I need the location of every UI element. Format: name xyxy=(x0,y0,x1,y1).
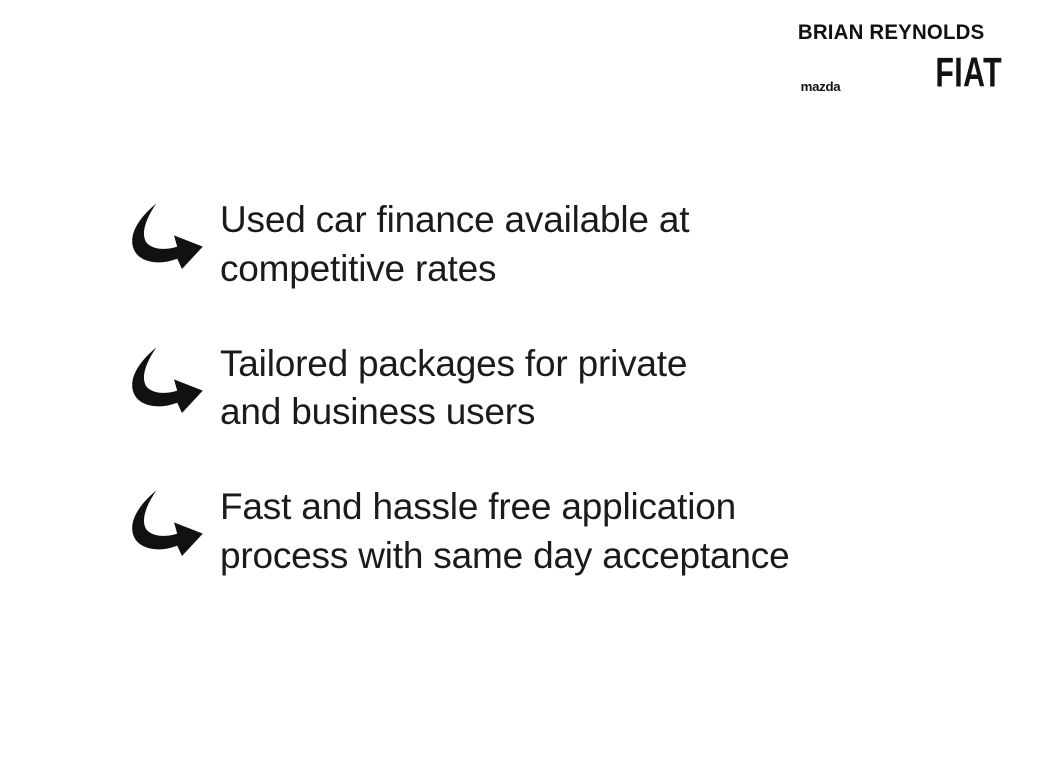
feature-bullet-list: Used car finance available at competitiv… xyxy=(126,196,966,581)
brand-logo-fiat: FIAT xyxy=(938,57,1000,93)
curved-arrow-icon xyxy=(126,344,206,418)
list-item: Fast and hassle free application process… xyxy=(126,483,966,581)
brand-logo-row: mazda MG FIAT xyxy=(782,57,1000,93)
list-item-line-1: Used car finance available at xyxy=(220,196,966,245)
list-item: Tailored packages for private and busine… xyxy=(126,340,966,438)
dealer-name: BRIAN REYNOLDS xyxy=(798,22,984,44)
list-item-line-1: Fast and hassle free application xyxy=(220,483,966,532)
list-item-line-1: Tailored packages for private xyxy=(220,340,966,389)
list-item-text: Fast and hassle free application process… xyxy=(220,483,966,581)
brand-logo-mazda: mazda xyxy=(782,61,858,93)
curved-arrow-icon xyxy=(126,200,206,274)
brand-header: BRIAN REYNOLDS mazda MG xyxy=(782,22,1000,93)
mazda-wordmark: mazda xyxy=(800,80,840,93)
brand-logo-mg: MG xyxy=(870,75,926,93)
fiat-wordmark: FIAT xyxy=(936,52,1003,93)
curved-arrow-icon xyxy=(126,487,206,561)
list-item-line-2: and business users xyxy=(220,388,966,437)
list-item-line-2: process with same day acceptance xyxy=(220,532,966,581)
list-item-text: Used car finance available at competitiv… xyxy=(220,196,966,294)
list-item-line-2: competitive rates xyxy=(220,245,966,294)
list-item-text: Tailored packages for private and busine… xyxy=(220,340,966,438)
list-item: Used car finance available at competitiv… xyxy=(126,196,966,294)
